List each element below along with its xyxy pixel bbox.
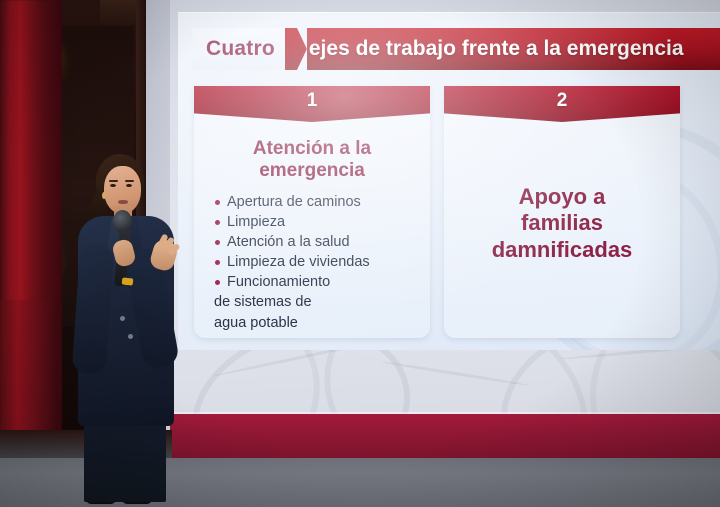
microphone-band <box>122 277 134 285</box>
slide-title-headline: ejes de trabajo frente a la emergencia <box>309 37 684 61</box>
chevron-right-icon <box>285 28 307 70</box>
screenshot-stage: Cuatro ejes de trabajo frente a la emerg… <box>0 0 720 507</box>
speaker-mouth <box>118 200 128 204</box>
speaker-eye-left <box>110 184 116 187</box>
slide-title-ribbon: Cuatro ejes de trabajo frente a la emerg… <box>192 28 720 70</box>
slide-title-bar: ejes de trabajo frente a la emergencia <box>307 28 720 70</box>
list-item: Limpieza de viviendas <box>214 253 418 272</box>
microphone-icon <box>113 210 132 233</box>
speaker-blazer-button <box>128 334 133 339</box>
slide-card-2-title: Apoyo a familias damnificadas <box>456 184 668 263</box>
list-item-continuation: agua potable <box>214 314 418 333</box>
slide-card-2-title-line2: familias <box>456 210 668 236</box>
speaker-earring <box>102 192 106 199</box>
speaker-figure <box>62 148 192 507</box>
list-item: Apertura de caminos <box>214 193 418 212</box>
slide-title-tag: Cuatro <box>192 28 287 70</box>
slide-card-1: 1 Atención a la emergencia Apertura de c… <box>194 86 430 338</box>
speaker-blazer-button <box>120 316 125 321</box>
slide-card-1-header: 1 <box>194 86 430 122</box>
slide-card-2-number: 2 <box>557 86 568 116</box>
list-item: Atención a la salud <box>214 233 418 252</box>
backdrop-red-band <box>170 414 720 460</box>
slide-card-1-title-line2: emergencia <box>206 160 418 182</box>
list-item: Funcionamiento <box>214 273 418 292</box>
speaker-eyebrow-right <box>125 180 134 182</box>
slide-card-2-header: 2 <box>444 86 680 122</box>
slide-card-2-title-line3: damnificadas <box>456 237 668 263</box>
slide-card-1-number: 1 <box>307 86 318 116</box>
list-item-continuation: de sistemas de <box>214 293 418 312</box>
slide-card-1-title-line1: Atención a la <box>206 138 418 160</box>
slide-card-1-bullet-list: Apertura de caminos Limpieza Atención a … <box>214 193 418 334</box>
slide-card-2-body: Apoyo a familias damnificadas <box>444 122 680 338</box>
slide-card-2: 2 Apoyo a familias damnificadas <box>444 86 680 338</box>
speaker-eyebrow-left <box>109 180 118 182</box>
projected-slide: Cuatro ejes de trabajo frente a la emerg… <box>178 12 720 350</box>
slide-title-tag-label: Cuatro <box>206 37 275 61</box>
slide-card-1-body: Atención a la emergencia Apertura de cam… <box>194 122 430 338</box>
slide-cards-row: 1 Atención a la emergencia Apertura de c… <box>194 86 720 338</box>
slide-card-2-title-line1: Apoyo a <box>456 184 668 210</box>
list-item: Limpieza <box>214 213 418 232</box>
slide-card-1-title: Atención a la emergencia <box>206 138 418 183</box>
speaker-eye-right <box>126 184 132 187</box>
